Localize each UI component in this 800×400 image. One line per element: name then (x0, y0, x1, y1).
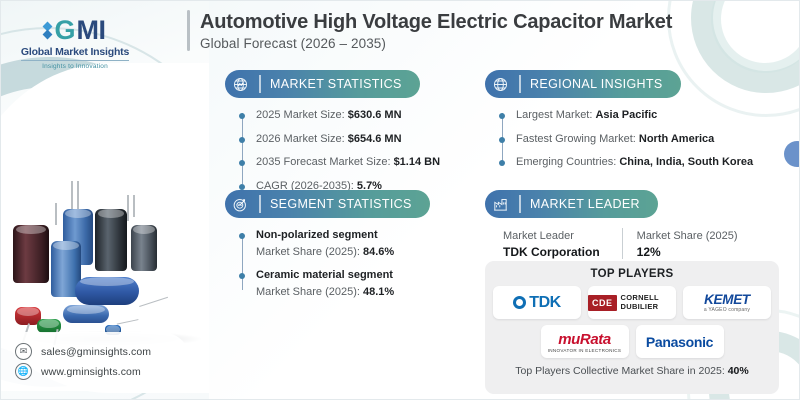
contact-email-row[interactable]: ✉ sales@gminsights.com (15, 343, 181, 360)
regional-insights-label: REGIONAL INSIGHTS (523, 77, 663, 91)
market-leader-pill: MARKET LEADER (485, 190, 658, 218)
list-item: Largest Market: Asia Pacific (516, 107, 785, 124)
murata-wordmark: muRata (548, 331, 622, 348)
list-item: Non-polarized segment Market Share (2025… (256, 227, 465, 260)
capacitors-photo (7, 153, 203, 343)
kemet-wordmark: KEMET (704, 292, 750, 307)
envelope-icon: ✉ (15, 343, 32, 360)
cde-badge: CDE (588, 295, 617, 311)
section-regional-insights: REGIONAL INSIGHTS Largest Market: Asia P… (485, 70, 785, 178)
market-leader-share-col: Market Share (2025) 12% (622, 228, 760, 259)
page-subtitle: Global Forecast (2026 – 2035) (200, 36, 672, 51)
page-title: Automotive High Voltage Electric Capacit… (200, 10, 672, 34)
gmi-logo: G MI Global Market Insights Insights to … (15, 17, 135, 70)
section-segment-statistics: SEGMENT STATISTICS Non-polarized segment… (225, 190, 465, 307)
murata-tagline: INNOVATOR IN ELECTRONICS (548, 348, 622, 353)
market-leader-label: MARKET LEADER (523, 197, 640, 211)
logo-tagline: Insights to Innovation (15, 63, 135, 70)
cornell-dubilier-wordmark: CORNELL DUBILIER (621, 294, 676, 311)
panasonic-wordmark: Panasonic (646, 334, 713, 350)
list-item: Fastest Growing Market: North America (516, 131, 785, 148)
list-item: Emerging Countries: China, India, South … (516, 154, 785, 171)
decorative-dot (784, 141, 800, 167)
logo-letters-mi: MI (77, 17, 106, 44)
tdk-mark-icon (513, 296, 526, 309)
market-leader-rows: Market Leader TDK Corporation Market Sha… (503, 228, 785, 259)
title-accent-bar (187, 10, 190, 51)
player-logo-kemet: KEMET a YAGEO company (683, 286, 771, 319)
segment-statistics-label: SEGMENT STATISTICS (263, 197, 412, 211)
tdk-wordmark: TDK (529, 294, 560, 312)
top-players-footer: Top Players Collective Market Share in 2… (515, 365, 748, 377)
top-players-card: TOP PLAYERS TDK CDE CORNELL DUBILIER KEM… (485, 261, 779, 394)
logo-diamond-icon (44, 23, 51, 38)
market-statistics-pill: MARKET STATISTICS (225, 70, 420, 98)
contact-website[interactable]: www.gminsights.com (41, 366, 141, 378)
market-statistics-list: 2025 Market Size: $630.6 MN 2026 Market … (239, 107, 465, 194)
factory-icon (485, 190, 515, 218)
market-leader-value: TDK Corporation (503, 245, 600, 259)
market-share-value: 12% (637, 245, 738, 259)
top-players-logo-row-2: muRata INNOVATOR IN ELECTRONICS Panasoni… (541, 325, 724, 358)
contact-email[interactable]: sales@gminsights.com (41, 346, 151, 358)
logo-divider (21, 60, 129, 61)
list-item: 2035 Forecast Market Size: $1.14 BN (256, 154, 465, 171)
section-market-statistics: MARKET STATISTICS 2025 Market Size: $630… (225, 70, 465, 201)
target-chart-icon (225, 190, 255, 218)
section-market-leader: MARKET LEADER Market Leader TDK Corporat… (485, 190, 785, 259)
logo-company-name: Global Market Insights (15, 46, 135, 58)
top-players-title: TOP PLAYERS (591, 268, 674, 280)
market-leader-name-col: Market Leader TDK Corporation (503, 228, 622, 259)
list-item: Ceramic material segment Market Share (2… (256, 267, 465, 300)
regional-insights-list: Largest Market: Asia Pacific Fastest Gro… (499, 107, 785, 171)
player-logo-tdk: TDK (493, 286, 581, 319)
player-logo-murata: muRata INNOVATOR IN ELECTRONICS (541, 325, 629, 358)
globe-icon (485, 70, 515, 98)
market-statistics-label: MARKET STATISTICS (263, 77, 402, 91)
market-leader-key: Market Leader (503, 228, 600, 245)
player-logo-cornell-dubilier: CDE CORNELL DUBILIER (588, 286, 676, 319)
regional-insights-pill: REGIONAL INSIGHTS (485, 70, 681, 98)
logo-letter-g: G (54, 17, 74, 44)
infographic-root: G MI Global Market Insights Insights to … (0, 0, 800, 400)
segment-statistics-list: Non-polarized segment Market Share (2025… (239, 227, 465, 300)
list-item: 2025 Market Size: $630.6 MN (256, 107, 465, 124)
globe-chart-icon (225, 70, 255, 98)
list-item: 2026 Market Size: $654.6 MN (256, 131, 465, 148)
contact-block: ✉ sales@gminsights.com 🌐 www.gminsights.… (1, 332, 191, 391)
kemet-tagline: a YAGEO company (704, 307, 750, 313)
top-players-logo-row-1: TDK CDE CORNELL DUBILIER KEMET a YAGEO c… (493, 286, 771, 319)
header-title-block: Automotive High Voltage Electric Capacit… (187, 10, 672, 51)
market-share-key: Market Share (2025) (637, 228, 738, 245)
player-logo-panasonic: Panasonic (636, 325, 724, 358)
segment-statistics-pill: SEGMENT STATISTICS (225, 190, 430, 218)
contact-website-row[interactable]: 🌐 www.gminsights.com (15, 363, 181, 380)
globe-icon: 🌐 (15, 363, 32, 380)
